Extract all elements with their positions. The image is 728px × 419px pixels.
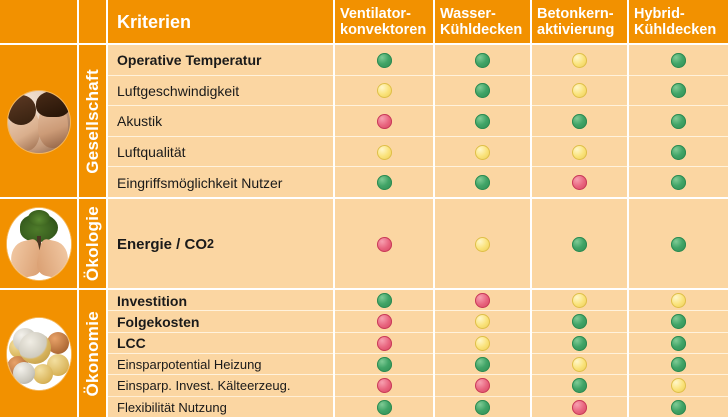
- group-label-text: Gesellschaft: [83, 69, 103, 174]
- header-column-4: Hybrid-Kühldecken: [628, 0, 728, 44]
- group-label-text: Ökologie: [83, 206, 103, 281]
- header-column-2: Wasser-Kühldecken: [434, 0, 531, 44]
- rating-dot-red: [377, 114, 392, 129]
- rating-cell: [531, 397, 628, 418]
- rating-cell: [434, 137, 531, 168]
- rating-cell: [334, 354, 434, 375]
- criteria-label-text: Investition: [117, 293, 187, 309]
- criteria-label-text: Flexibilität Nutzung: [117, 400, 227, 415]
- rating-dot-green: [377, 293, 392, 308]
- header-column-line2: Kühldecken: [634, 22, 716, 38]
- rating-cell: [434, 290, 531, 311]
- header-column-line2: konvektoren: [340, 22, 426, 38]
- rating-dot-yellow: [572, 53, 587, 68]
- rating-cell: [434, 311, 531, 332]
- rating-dot-green: [671, 175, 686, 190]
- rating-dot-green: [475, 400, 490, 415]
- rating-dot-green: [475, 175, 490, 190]
- rating-cell: [434, 167, 531, 198]
- rating-dot-yellow: [572, 357, 587, 372]
- rating-dot-red: [377, 237, 392, 252]
- rating-cell: [531, 333, 628, 354]
- rating-cell: [628, 76, 728, 107]
- euro-coins-photo-icon: [7, 318, 71, 390]
- rating-dot-green: [377, 400, 392, 415]
- rating-cell: [434, 333, 531, 354]
- rating-cell: [334, 167, 434, 198]
- rating-cell: [628, 45, 728, 76]
- criteria-label-text: Einsparp. Invest. Kälteerzeug.: [117, 378, 290, 393]
- rating-cell: [434, 354, 531, 375]
- criteria-label-text: Einsparpotential Heizung: [117, 357, 262, 372]
- rating-cell: [628, 397, 728, 418]
- rating-cell: [334, 106, 434, 137]
- criteria-label: Luftqualität: [107, 137, 334, 168]
- rating-cell: [628, 167, 728, 198]
- criteria-label-text: Energie / CO: [117, 236, 207, 253]
- criteria-label-text: Luftqualität: [117, 144, 186, 160]
- rating-dot-yellow: [377, 145, 392, 160]
- group-photo-gesellschaft: [0, 45, 78, 198]
- rating-dot-green: [475, 83, 490, 98]
- rating-cell: [434, 375, 531, 396]
- rating-dot-green: [671, 400, 686, 415]
- column-separator-4: [530, 0, 532, 418]
- rating-dot-red: [377, 378, 392, 393]
- rating-dot-yellow: [475, 237, 490, 252]
- criteria-label-text: Operative Temperatur: [117, 52, 261, 68]
- rating-dot-green: [475, 53, 490, 68]
- rating-cell: [628, 375, 728, 396]
- rating-dot-green: [475, 114, 490, 129]
- rating-dot-green: [671, 145, 686, 160]
- rating-dot-green: [671, 237, 686, 252]
- criteria-label: Investition: [107, 290, 334, 311]
- criteria-label: Operative Temperatur: [107, 45, 334, 76]
- header-column-line1: Hybrid-: [634, 6, 685, 22]
- rating-dot-green: [671, 114, 686, 129]
- criteria-label-text: Eingriffsmöglichkeit Nutzer: [117, 175, 282, 191]
- header-column-line1: Ventilator-: [340, 6, 411, 22]
- rating-cell: [531, 137, 628, 168]
- tree-in-hands-photo-icon: [7, 208, 71, 280]
- rating-cell: [531, 311, 628, 332]
- rating-dot-green: [671, 336, 686, 351]
- rating-dot-yellow: [572, 83, 587, 98]
- rating-dot-green: [671, 314, 686, 329]
- rating-dot-red: [475, 378, 490, 393]
- rating-cell: [334, 76, 434, 107]
- rating-dot-red: [572, 175, 587, 190]
- rating-dot-green: [377, 175, 392, 190]
- rating-dot-yellow: [377, 83, 392, 98]
- people-photo-icon: [8, 91, 70, 153]
- header-column-line1: Wasser-: [440, 6, 496, 22]
- criteria-label: Luftgeschwindigkeit: [107, 76, 334, 107]
- header-criteria: Kriterien: [107, 0, 334, 44]
- rating-dot-green: [572, 237, 587, 252]
- criteria-label: Eingriffsmöglichkeit Nutzer: [107, 167, 334, 198]
- rating-cell: [531, 375, 628, 396]
- criteria-label-text: Akustik: [117, 113, 162, 129]
- header-corner-blank: [0, 0, 78, 44]
- rating-cell: [434, 397, 531, 418]
- rating-cell: [531, 45, 628, 76]
- rating-cell: [531, 167, 628, 198]
- criteria-label: Energie / CO2: [107, 199, 334, 289]
- criteria-label-text: Folgekosten: [117, 314, 199, 330]
- group-photo-oekologie: [0, 199, 78, 289]
- criteria-label: Einsparpotential Heizung: [107, 354, 334, 375]
- header-column-3: Betonkern-aktivierung: [531, 0, 628, 44]
- rating-cell: [628, 137, 728, 168]
- rating-dot-green: [572, 114, 587, 129]
- rating-dot-green: [475, 357, 490, 372]
- rating-cell: [628, 311, 728, 332]
- rating-dot-green: [377, 53, 392, 68]
- evaluation-matrix: KriterienVentilator-konvektorenWasser-Kü…: [0, 0, 728, 418]
- rating-cell: [434, 45, 531, 76]
- rating-dot-red: [475, 293, 490, 308]
- rating-cell: [628, 354, 728, 375]
- rating-dot-green: [572, 314, 587, 329]
- rating-cell: [434, 199, 531, 289]
- group-label-gesellschaft: Gesellschaft: [78, 45, 107, 198]
- rating-dot-yellow: [671, 293, 686, 308]
- rating-dot-green: [671, 357, 686, 372]
- rating-cell: [334, 333, 434, 354]
- rating-cell: [334, 311, 434, 332]
- rating-dot-green: [572, 378, 587, 393]
- rating-cell: [334, 290, 434, 311]
- header-group-blank: [78, 0, 107, 44]
- criteria-label: Akustik: [107, 106, 334, 137]
- rating-dot-green: [671, 53, 686, 68]
- rating-cell: [531, 76, 628, 107]
- header-column-1: Ventilator-konvektoren: [334, 0, 434, 44]
- rating-cell: [434, 106, 531, 137]
- rating-cell: [628, 199, 728, 289]
- criteria-label: Flexibilität Nutzung: [107, 397, 334, 418]
- rating-cell: [531, 106, 628, 137]
- rating-cell: [334, 45, 434, 76]
- criteria-label-text: Luftgeschwindigkeit: [117, 83, 239, 99]
- rating-cell: [531, 199, 628, 289]
- rating-cell: [434, 76, 531, 107]
- rating-dot-green: [572, 336, 587, 351]
- column-separator-2: [333, 0, 335, 418]
- header-column-line1: Betonkern-: [537, 6, 614, 22]
- rating-dot-yellow: [475, 145, 490, 160]
- rating-cell: [628, 333, 728, 354]
- criteria-label-text: LCC: [117, 335, 146, 351]
- column-separator-1: [106, 0, 108, 418]
- rating-cell: [531, 290, 628, 311]
- rating-cell: [334, 137, 434, 168]
- rating-dot-yellow: [671, 378, 686, 393]
- rating-cell: [334, 375, 434, 396]
- rating-cell: [531, 354, 628, 375]
- group-label-oekonomie: Ökonomie: [78, 290, 107, 418]
- rating-dot-yellow: [572, 293, 587, 308]
- header-column-line2: Kühldecken: [440, 22, 522, 38]
- rating-cell: [628, 290, 728, 311]
- rating-dot-red: [377, 314, 392, 329]
- column-separator-0: [77, 0, 79, 418]
- criteria-label: LCC: [107, 333, 334, 354]
- rating-dot-green: [377, 357, 392, 372]
- group-photo-oekonomie: [0, 290, 78, 418]
- rating-cell: [628, 106, 728, 137]
- rating-dot-yellow: [572, 145, 587, 160]
- rating-cell: [334, 199, 434, 289]
- rating-dot-yellow: [475, 336, 490, 351]
- criteria-label: Einsparp. Invest. Kälteerzeug.: [107, 375, 334, 396]
- criteria-label: Folgekosten: [107, 311, 334, 332]
- column-separator-3: [433, 0, 435, 418]
- rating-dot-green: [671, 83, 686, 98]
- header-separator: [0, 43, 728, 45]
- rating-dot-red: [572, 400, 587, 415]
- column-separator-5: [627, 0, 629, 418]
- criteria-label-subscript: 2: [207, 237, 214, 251]
- rating-dot-red: [377, 336, 392, 351]
- header-column-line2: aktivierung: [537, 22, 614, 38]
- rating-cell: [334, 397, 434, 418]
- rating-dot-yellow: [475, 314, 490, 329]
- group-label-text: Ökonomie: [83, 311, 103, 397]
- group-label-oekologie: Ökologie: [78, 199, 107, 289]
